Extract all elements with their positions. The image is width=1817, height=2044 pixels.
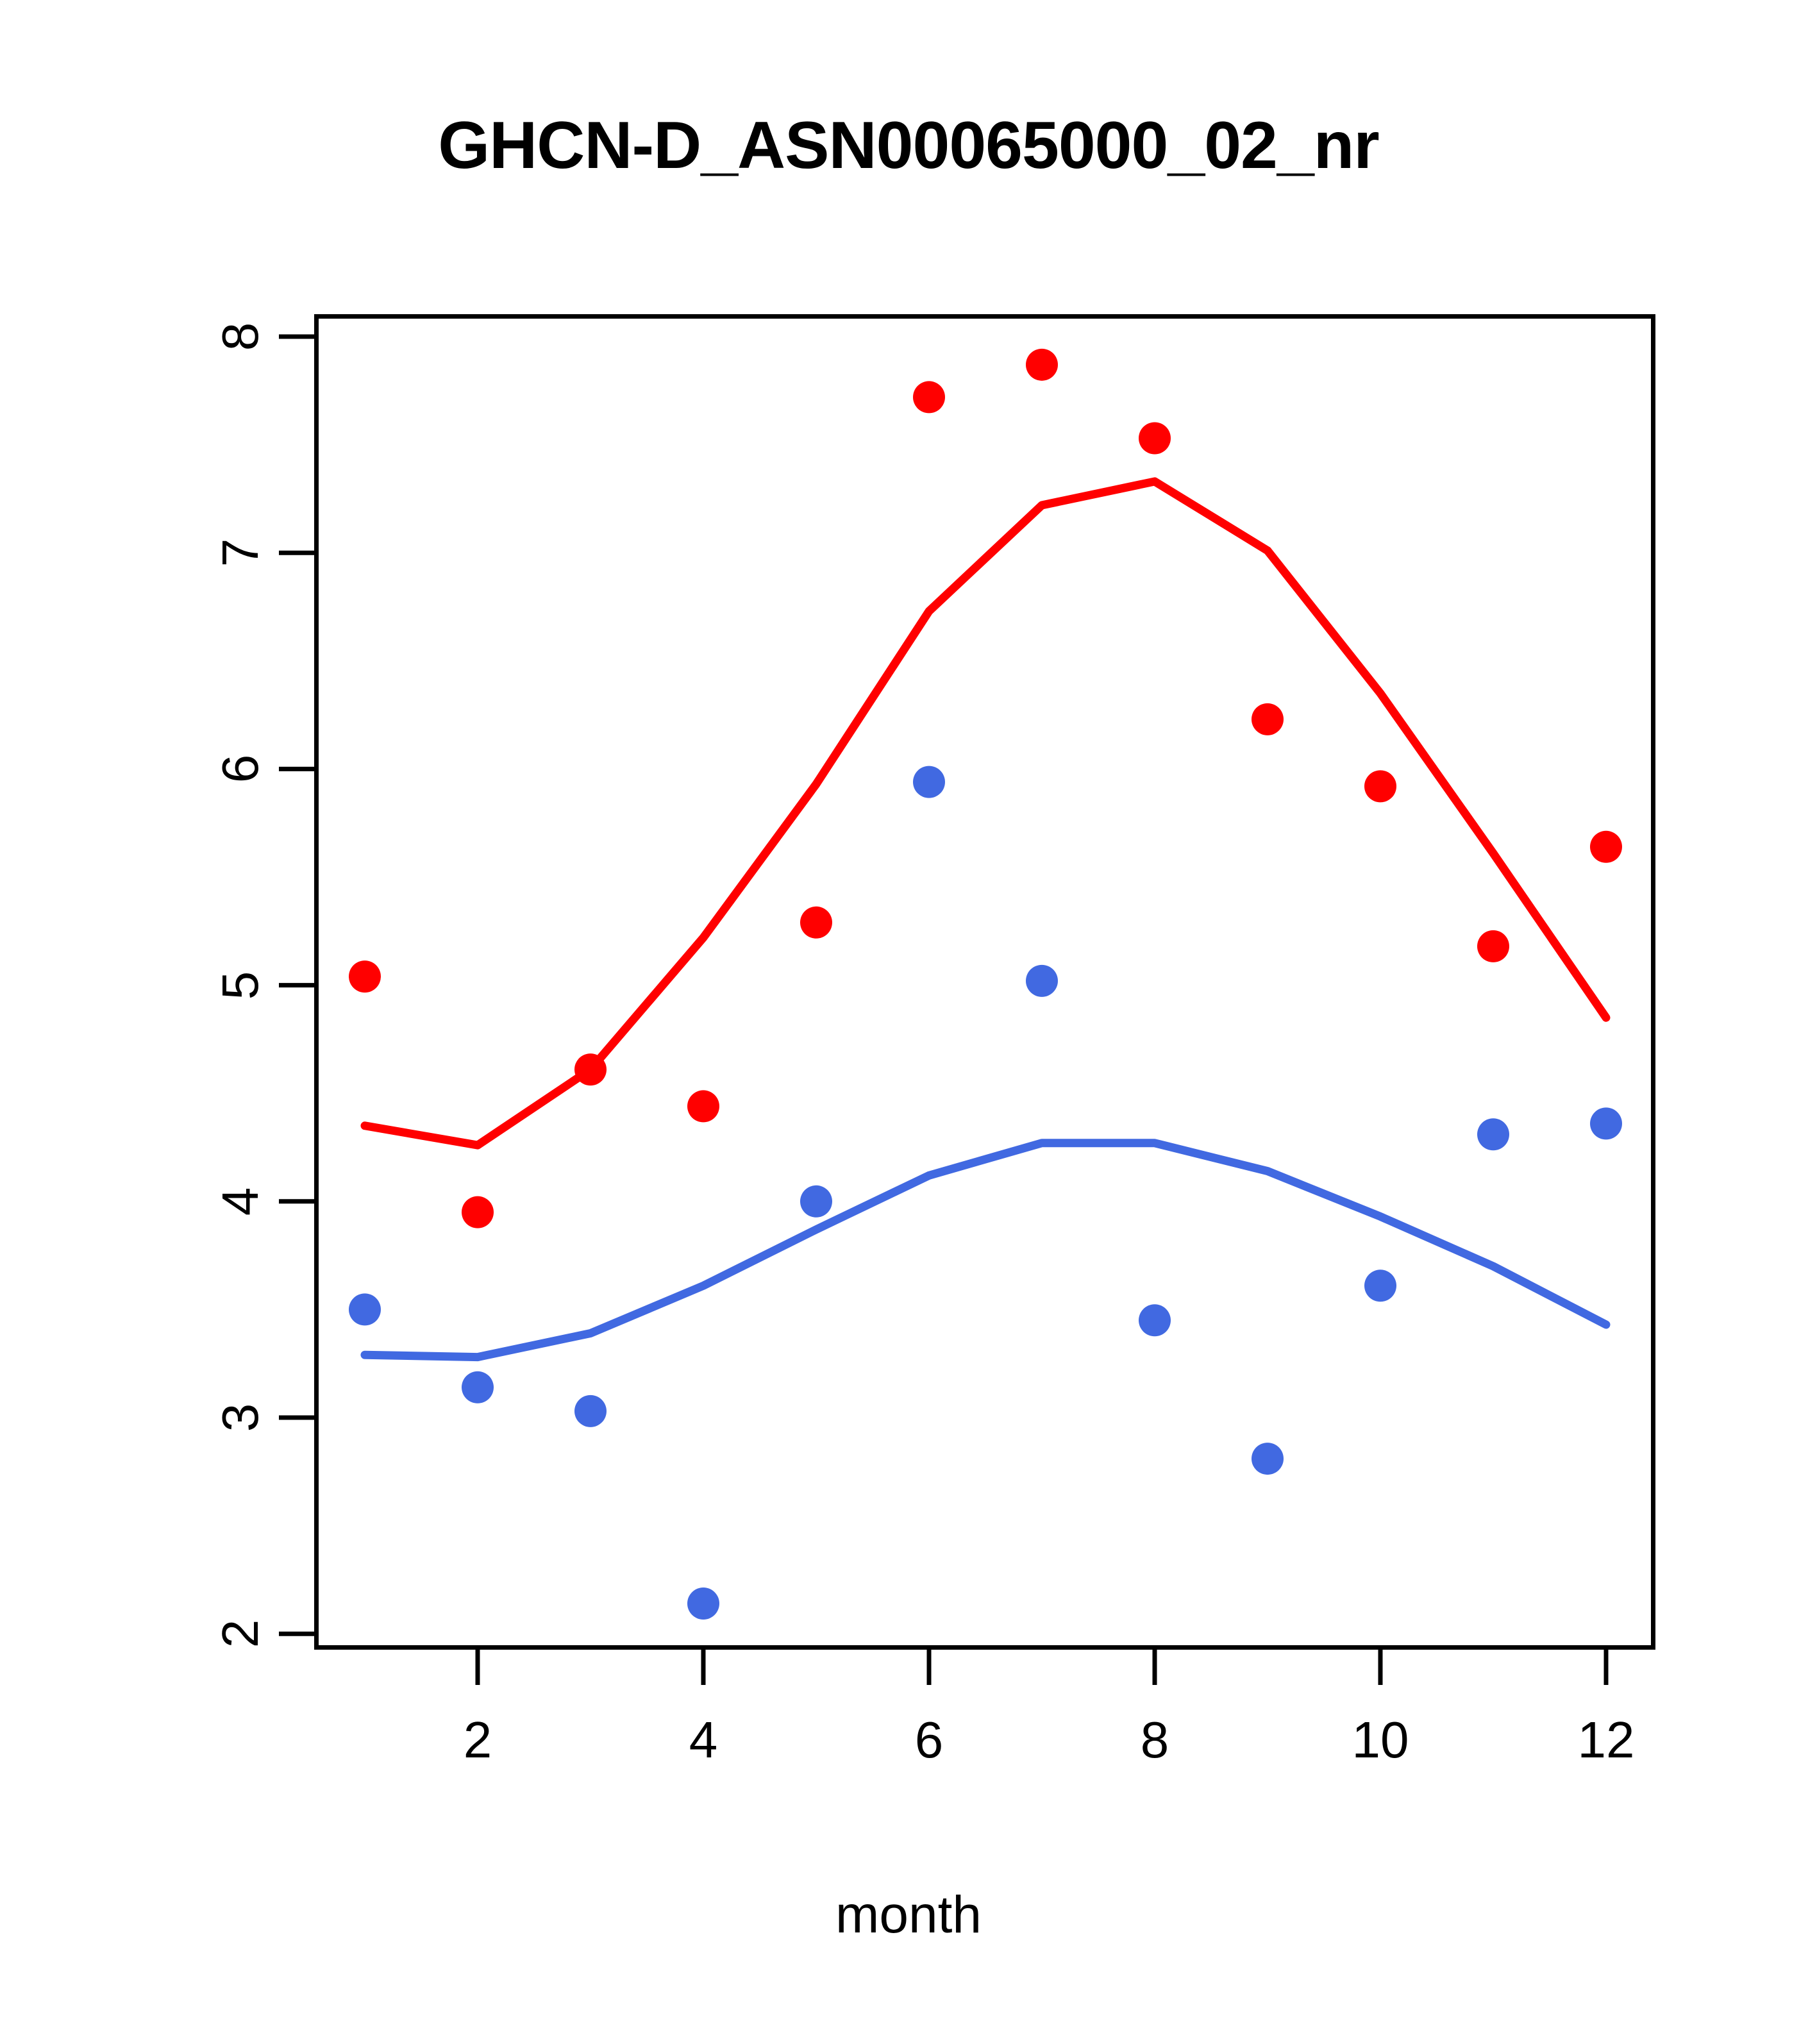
- y-tick-label: 2: [208, 1595, 272, 1672]
- y-tick-label: 4: [208, 1163, 272, 1240]
- y-tick-label: 5: [208, 947, 272, 1024]
- x-tick-label: 12: [1536, 1711, 1677, 1770]
- chart-figure: GHCN-D_ASN00065000_02_nr 2345678 2468101…: [0, 0, 1817, 2044]
- x-tick-label: 10: [1310, 1711, 1451, 1770]
- x-tick-label: 2: [407, 1711, 548, 1770]
- y-tick-label: 3: [208, 1379, 272, 1456]
- y-tick-label: 8: [208, 298, 272, 375]
- x-tick-label: 6: [858, 1711, 1000, 1770]
- x-tick-label: 4: [633, 1711, 774, 1770]
- x-axis-label: month: [0, 1885, 1817, 1945]
- page-title: GHCN-D_ASN00065000_02_nr: [0, 108, 1817, 184]
- plot-area: [314, 314, 1655, 1650]
- y-tick-label: 7: [208, 514, 272, 591]
- y-tick-label: 6: [208, 730, 272, 807]
- x-tick-label: 8: [1084, 1711, 1225, 1770]
